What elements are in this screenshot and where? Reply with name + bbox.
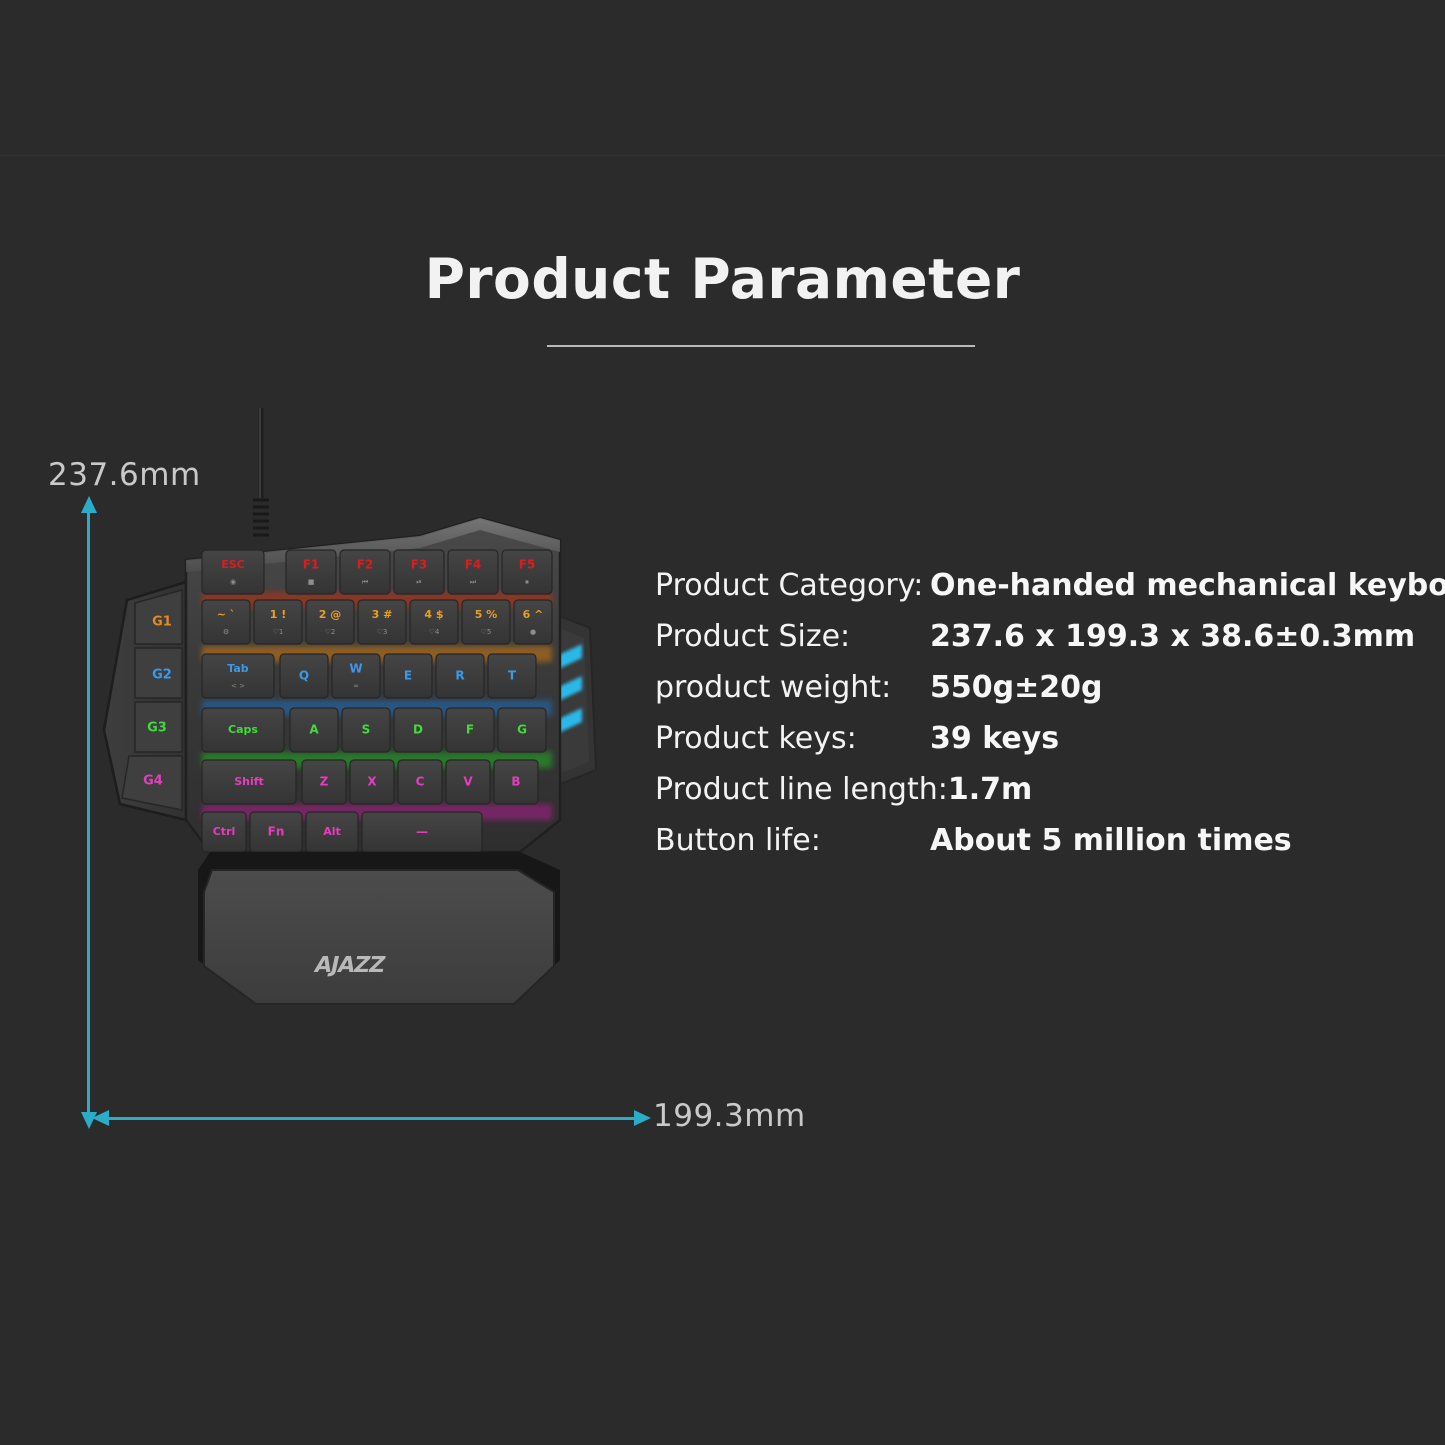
keycap[interactable]: — (362, 812, 482, 852)
keycap-sublabel: ■ (308, 578, 315, 586)
keycap-sublabel: ◉ (230, 578, 236, 586)
keycap-label: Alt (323, 825, 341, 838)
keycap[interactable]: V (446, 760, 490, 804)
svg-text:AJAZZ: AJAZZ (312, 952, 387, 978)
keycap-label: G (517, 723, 527, 737)
keycap[interactable]: F5⏹ (502, 550, 552, 594)
spec-label: Product Category: (655, 568, 930, 603)
keycap-label: E (404, 669, 412, 683)
keycap[interactable]: ESC◉ (202, 550, 264, 594)
keycap-sublabel: ⏭ (470, 578, 477, 586)
spec-label: product weight: (655, 670, 930, 705)
keycap-sublabel: ♡3 (377, 628, 388, 636)
keycap-label: Shift (234, 775, 264, 788)
keycap-label: F1 (303, 558, 320, 572)
keycap-label: F (466, 723, 474, 737)
keycap[interactable]: ~ `⚙ (202, 600, 250, 644)
brand-logo: AJAZZ (312, 952, 387, 978)
spec-value: 237.6 x 199.3 x 38.6±0.3mm (930, 619, 1415, 654)
spec-value: One-handed mechanical keyboard (930, 568, 1445, 603)
background-seam-line (0, 155, 1445, 156)
keycap[interactable]: A (290, 708, 338, 752)
keycap[interactable]: C (398, 760, 442, 804)
macro-key-g4-label: G4 (143, 774, 163, 789)
keycap[interactable]: T (488, 654, 536, 698)
keycap-sublabel: ♡1 (273, 628, 284, 636)
keycap[interactable]: Caps (202, 708, 284, 752)
spec-value: 39 keys (930, 721, 1059, 756)
macro-key-g1-label: G1 (152, 615, 172, 630)
keycap-label: X (367, 775, 377, 789)
keycap-label: Z (320, 775, 329, 789)
keycap-label: V (463, 775, 473, 789)
spec-label: Product keys: (655, 721, 930, 756)
keycap[interactable]: D (394, 708, 442, 752)
keycap-label: — (416, 825, 428, 839)
keycap-label: Q (299, 669, 309, 683)
keycap-label: B (511, 775, 520, 789)
usb-cable-icon (253, 408, 269, 535)
specification-list: Product Category: One-handed mechanical … (655, 568, 1425, 874)
keycap-sublabel: ♡4 (429, 628, 440, 636)
page-title: Product Parameter (0, 252, 1445, 307)
keycap[interactable]: Shift (202, 760, 296, 804)
keycap[interactable]: Alt (306, 812, 358, 852)
spec-row: Product line length: 1.7m (655, 772, 1425, 822)
keycap-label: 4 $ (424, 608, 443, 621)
keycap-sublabel: < > (231, 682, 245, 690)
dimension-width-label: 199.3mm (653, 1098, 806, 1134)
title-underline (547, 345, 975, 347)
product-image-keyboard: G1 G2 G3 G4 ESC◉F1■F2⏮F3⏯F4⏭F5⏹~ `⚙1 !♡1… (90, 400, 650, 1120)
keycap[interactable]: G (498, 708, 546, 752)
keycap-sublabel: ⏹ (525, 578, 529, 586)
spec-label: Product line length: (655, 772, 948, 807)
keycap-label: F4 (465, 558, 482, 572)
keycap-label: S (362, 723, 371, 737)
keycap[interactable]: 5 %♡5 (462, 600, 510, 644)
keycap-label: F3 (411, 558, 428, 572)
keycap-label: Fn (268, 825, 285, 839)
page-title-wrap: Product Parameter (0, 252, 1445, 307)
keycap-sublabel: ∞ (353, 682, 359, 690)
keycap-label: 1 ! (270, 608, 287, 621)
keycap[interactable]: X (350, 760, 394, 804)
keycap[interactable]: 6 ^● (514, 600, 552, 644)
keycap-label: ~ ` (217, 608, 236, 621)
spec-value: About 5 million times (930, 823, 1292, 858)
spec-row: Product Category: One-handed mechanical … (655, 568, 1425, 618)
keycap[interactable]: F4⏭ (448, 550, 498, 594)
keycap[interactable]: E (384, 654, 432, 698)
macro-key-panel[interactable]: G1 G2 G3 G4 (104, 582, 186, 820)
spec-row: Product Size: 237.6 x 199.3 x 38.6±0.3mm (655, 619, 1425, 669)
keycap[interactable]: F (446, 708, 494, 752)
keycap[interactable]: Fn (250, 812, 302, 852)
keycap-sublabel: ♡2 (325, 628, 336, 636)
keycap[interactable]: F3⏯ (394, 550, 444, 594)
spec-label: Product Size: (655, 619, 930, 654)
keycap[interactable]: R (436, 654, 484, 698)
keycap-label: 2 @ (319, 608, 341, 621)
keycap-sublabel: ⏯ (416, 578, 422, 586)
keycap-label: 3 # (372, 608, 393, 621)
macro-key-g3-label: G3 (147, 721, 167, 736)
keycap-label: Caps (228, 723, 258, 736)
keycap-label: F2 (357, 558, 374, 572)
keycap-label: C (416, 775, 425, 789)
keycap[interactable]: Tab< > (202, 654, 274, 698)
keycap-label: ESC (221, 558, 245, 571)
keycap-label: W (349, 662, 362, 676)
macro-key-g2-label: G2 (152, 668, 172, 683)
keycap-sublabel: ⚙ (223, 628, 229, 636)
keycap[interactable]: 4 $♡4 (410, 600, 458, 644)
spec-row: Product keys: 39 keys (655, 721, 1425, 771)
wrist-rest: AJAZZ (198, 852, 560, 1004)
keycap[interactable]: 1 !♡1 (254, 600, 302, 644)
keycap[interactable]: S (342, 708, 390, 752)
keycap-label: Tab (227, 662, 249, 675)
keycap-label: A (309, 723, 319, 737)
keycap-sublabel: ● (530, 628, 536, 636)
keycap-label: Ctrl (213, 825, 236, 838)
keycap[interactable]: Q (280, 654, 328, 698)
keycap-sublabel: ♡5 (481, 628, 492, 636)
keycap-label: 6 ^ (523, 608, 544, 621)
keycap[interactable]: F1■ (286, 550, 336, 594)
keycap[interactable]: B (494, 760, 538, 804)
keycap-label: 5 % (475, 608, 498, 621)
keycap-label: D (413, 723, 423, 737)
spec-value: 1.7m (948, 772, 1032, 807)
keycap[interactable]: Z (302, 760, 346, 804)
spec-row: product weight: 550g±20g (655, 670, 1425, 720)
keycap-label: T (508, 669, 517, 683)
keycap-label: R (455, 669, 464, 683)
keycap-label: F5 (519, 558, 536, 572)
keycap-sublabel: ⏮ (362, 578, 368, 586)
spec-value: 550g±20g (930, 670, 1102, 705)
keycap[interactable]: W∞ (332, 654, 380, 698)
spec-label: Button life: (655, 823, 930, 858)
keycap[interactable]: 3 #♡3 (358, 600, 406, 644)
spec-row: Button life: About 5 million times (655, 823, 1425, 873)
keycap[interactable]: 2 @♡2 (306, 600, 354, 644)
keycap[interactable]: Ctrl (202, 812, 246, 852)
keycap[interactable]: F2⏮ (340, 550, 390, 594)
